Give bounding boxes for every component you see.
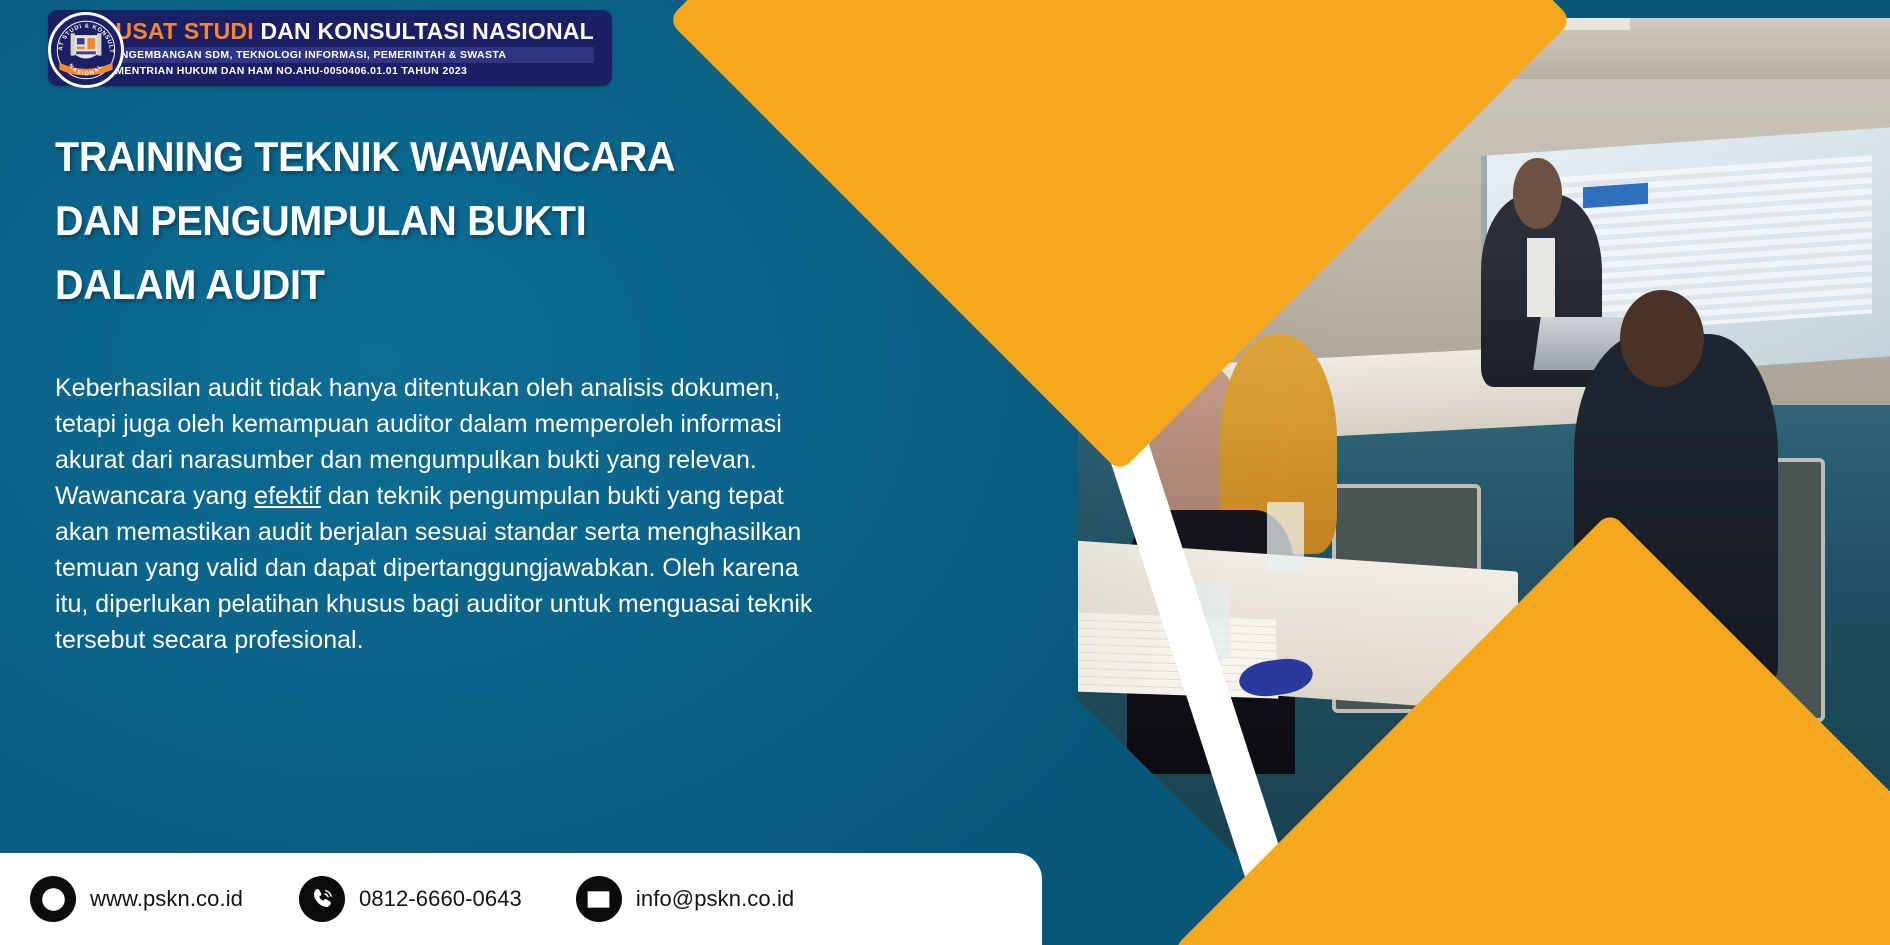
promo-banner: PUSAT STUDI & KONSULTASI NASIONAL P [0,0,1890,945]
phone-text: 0812-6660-0643 [359,886,522,912]
brand-name-part1: PUSAT STUDI [100,18,254,44]
brand-name: PUSAT STUDI DAN KONSULTASI NASIONAL [100,19,594,43]
brand-plate: PUSAT STUDI & KONSULTASI NASIONAL P [48,10,612,86]
globe-icon [30,876,76,922]
phone-icon [299,876,345,922]
description-paragraph: Keberhasilan audit tidak hanya ditentuka… [55,370,815,658]
page-title: TRAINING TEKNIK WAWANCARA DAN PENGUMPULA… [55,125,875,316]
contact-footer: www.pskn.co.id 0812-6660-0643 info@p [0,853,1042,945]
brand-name-part2: DAN KONSULTASI NASIONAL [260,18,593,44]
brand-tagline: PENGEMBANGAN SDM, TEKNOLOGI INFORMASI, P… [100,47,594,63]
brand-legal-registration: KEMENTRIAN HUKUM DAN HAM NO.AHU-0050406.… [100,65,594,77]
headline-line-3: DALAM AUDIT [55,253,826,317]
contact-website[interactable]: www.pskn.co.id [30,876,243,922]
email-text: info@pskn.co.id [636,886,794,912]
brand-logo-bar: PUSAT STUDI & KONSULTASI NASIONAL P [10,8,612,88]
envelope-icon [576,876,622,922]
efektif-link[interactable]: efektif [254,482,321,510]
headline-line-2: DAN PENGUMPULAN BUKTI [55,189,826,253]
headline-line-1: TRAINING TEKNIK WAWANCARA [55,125,826,189]
contact-email[interactable]: info@pskn.co.id [576,876,794,922]
contact-phone[interactable]: 0812-6660-0643 [299,876,522,922]
website-text: www.pskn.co.id [90,886,243,912]
organization-seal-icon: PUSAT STUDI & KONSULTASI NASIONAL [48,12,124,88]
